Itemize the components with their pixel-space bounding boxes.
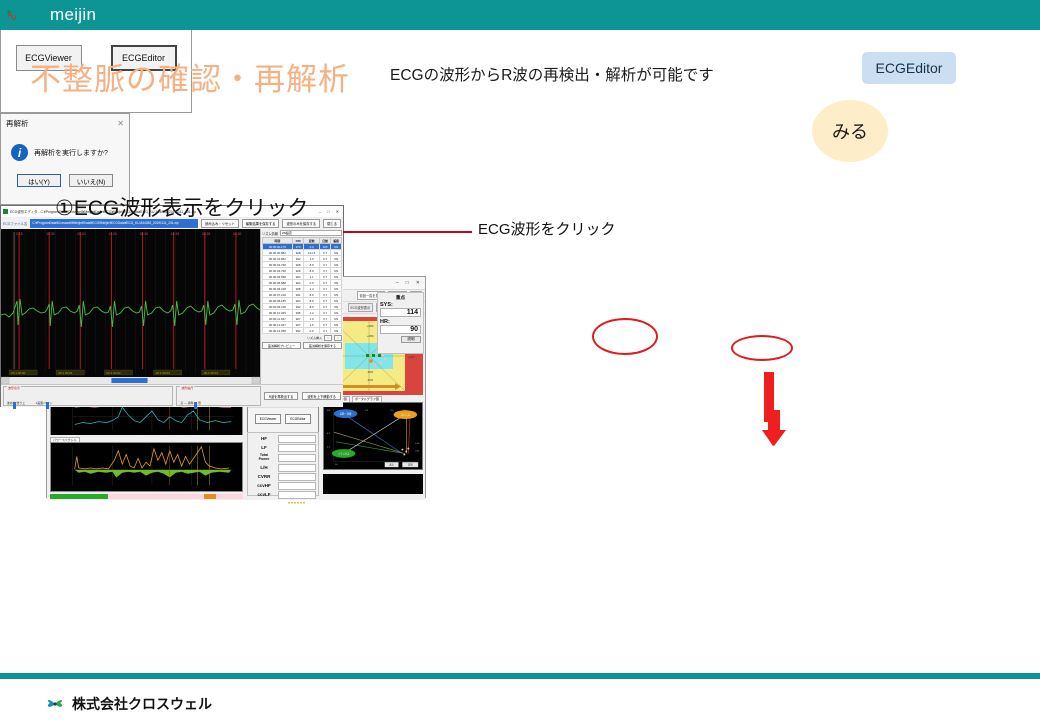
total-power-value (278, 454, 316, 462)
close-icon[interactable]: ✕ (414, 280, 422, 286)
status-badge-ecgeditor: ECGEditor (862, 52, 956, 84)
svg-text:2:15: 2:15 (16, 232, 23, 236)
svg-text:+20%: +20% (367, 334, 374, 338)
svg-text:20:02: 20:02 (77, 232, 86, 236)
close-icon[interactable]: ✕ (334, 209, 341, 214)
rhythm-label: リズム情報 (262, 231, 278, 236)
lf-value (278, 444, 316, 452)
analysis-preview-button[interactable]: 医派解析プレビュー (262, 342, 301, 349)
inline-ecgeditor-button[interactable]: ECGEditor (285, 414, 311, 424)
highlight-ellipse-yes-button (731, 335, 793, 361)
svg-text:14:35: 14:35 (171, 232, 180, 236)
redetect-r-wave-button[interactable]: R波を再検出する (264, 392, 299, 400)
svg-text:00:1 00:03: 00:1 00:03 (156, 371, 171, 375)
hrv-metrics-panel: HF LF TotalPower L/H CVRR (247, 432, 319, 496)
maximize-icon[interactable]: □ (325, 209, 331, 214)
slide-root: meijin 不整脈の確認・再解析 ECGの波形からR波の再検出・解析が可能です… (0, 0, 1040, 720)
hf-label: HF (250, 437, 278, 442)
svg-text:-40%: -40% (367, 378, 374, 382)
dialog-reanalyze-title: 再解析 (6, 118, 29, 129)
step-1-title: ①ECG波形表示をクリック (55, 192, 308, 222)
svg-text:04:35: 04:35 (202, 232, 211, 236)
power-chart-panel (50, 442, 243, 492)
status-color-bar (50, 494, 243, 499)
close-button[interactable]: 閉じる (323, 219, 341, 228)
company-name: 株式会社クロスウェル (72, 694, 212, 714)
flow-arrow-down (756, 372, 792, 453)
close-icon[interactable]: ✕ (117, 119, 124, 128)
bp-stats-caption: 重点 (380, 295, 421, 301)
ecg-editor-app-icon (3, 209, 8, 214)
lf-label: LF (250, 446, 278, 451)
hr-stat-value: 90 (380, 325, 421, 334)
company-logo-icon (44, 693, 66, 715)
svg-text:0.24: 0.24 (415, 451, 420, 453)
top-bar: meijin (0, 0, 1040, 30)
page-title: 不整脈の確認・再解析 (30, 54, 350, 99)
lh-label: L/H (250, 466, 278, 471)
hrv-row: ccvHF (250, 482, 316, 490)
rhythm-header: リズム情報 ZN設定 (262, 230, 342, 236)
app-brand-title: meijin (50, 5, 96, 25)
bp-stats-panel: 重点 SYS: 114 HR: 90 説明 (377, 292, 424, 354)
table-cell: NS (331, 328, 342, 334)
hrv-row: LF (250, 444, 316, 452)
footer: 株式会社クロスウェル (44, 693, 212, 715)
rhythm-up-button[interactable]: ↑ (324, 335, 332, 341)
ecg-rhythm-sidebar: リズム情報 ZN設定 時間 RRI 変動 自動 編集 00:00:00.1752… (260, 229, 343, 384)
footer-divider (0, 673, 1040, 679)
scroll-speed-label: 進める/送り上 (7, 401, 25, 405)
sys-stat-value: 114 (380, 308, 421, 317)
black-filler-strip (323, 474, 423, 494)
svg-text:00:1 00:04: 00:1 00:04 (204, 371, 219, 375)
svg-text:00:1 00:01: 00:1 00:01 (58, 371, 73, 375)
hrv-row: CVRR (250, 473, 316, 481)
page-size-slider[interactable]: 1画面/ページ (36, 401, 53, 405)
analysis-save-button[interactable]: 医派解析を保存する (303, 342, 342, 349)
table-cell: 0.7 (319, 328, 331, 334)
ccvlf-value (278, 491, 316, 499)
info-icon: i (11, 144, 28, 161)
ccvhf-value (278, 482, 316, 490)
svg-text:10:30: 10:30 (46, 232, 55, 236)
ecg-path-label: ECGファイル名 (3, 221, 27, 226)
maximize-icon[interactable]: □ (404, 280, 411, 286)
svg-text:+40%: +40% (408, 355, 415, 359)
ecg-editor-window: ECG波形エディタ - C:¥ProgramData¥Crosswell¥Mei… (0, 205, 344, 407)
svg-text:1.00: 1.00 (415, 443, 420, 445)
svg-text:18:26: 18:26 (140, 232, 149, 236)
svg-text:04:26: 04:26 (233, 232, 242, 236)
svg-text:00:1 00:00: 00:1 00:00 (11, 371, 26, 375)
svg-text:+40%: +40% (367, 324, 374, 328)
table-cell: 932 (292, 328, 304, 334)
lh-value (278, 464, 316, 472)
table-row[interactable]: 00:00:13.0589320.90.7NS (263, 328, 342, 334)
table-cell: 0.9 (304, 328, 319, 334)
svg-text:0.2: 0.2 (327, 447, 331, 449)
rhythm-select[interactable]: ZN設定 (280, 230, 342, 236)
dialog-reanalyze-titlebar: 再解析 ✕ (1, 114, 129, 132)
svg-text:1.0: 1.0 (335, 464, 339, 466)
cvrr-value (278, 473, 316, 481)
ecg-waveform-plot[interactable]: 2:1510:3020:02 14:2018:2614:35 04:3504:2… (1, 229, 260, 384)
ccvlf-label: ccvLF (250, 493, 278, 498)
waveform-display-caption: 波形表示 (7, 386, 21, 390)
svg-text:L/H: L/H (327, 410, 331, 412)
table-cell: 00:00:13.058 (263, 328, 293, 334)
highlight-ellipse-ecgeditor (592, 318, 658, 355)
svg-text:0.5: 0.5 (327, 433, 331, 435)
rhythm-insert-label: リズム挿入 (262, 336, 322, 340)
ecg-editor-main: 2:1510:3020:02 14:2018:2614:35 04:3504:2… (1, 229, 343, 384)
ecg-editor-bottom-controls: 波形表示 進める/送り上 1画面/ページ 波形縮尺 高 — 標準 — 低 R波 (1, 384, 343, 407)
minimize-icon[interactable]: – (394, 280, 401, 286)
svg-text:00:1 00:02: 00:1 00:02 (106, 371, 121, 375)
waveform-scale-caption: 波形縮尺 (180, 386, 194, 390)
dialog-reanalyze-message: 再解析を実行しますか? (34, 148, 108, 158)
scale-label: 高 — 標準 — 低 (180, 401, 201, 405)
svg-text:-20%: -20% (367, 370, 374, 374)
hrv-row: TotalPower (250, 453, 316, 463)
inline-ecgviewer-button[interactable]: ECGViewer (255, 414, 281, 424)
move-waveform-button[interactable]: 波形を上下移動する (302, 392, 341, 400)
ccvhf-label: ccvHF (250, 484, 278, 489)
total-power-label: TotalPower (250, 454, 278, 461)
callout-label: ECG波形をクリック (478, 218, 616, 239)
waveform-scale-group: 波形縮尺 高 — 標準 — 低 (176, 386, 260, 406)
hf-value (278, 435, 316, 443)
no-button[interactable]: いいえ(N) (69, 174, 113, 187)
page-subtitle: ECGの波形からR波の再検出・解析が可能です (390, 63, 714, 85)
scale-slider[interactable]: 高 — 標準 — 低 (180, 401, 201, 405)
hrv-row: L/H (250, 464, 316, 472)
rhythm-down-button[interactable]: ↓ (334, 335, 342, 341)
scroll-speed-slider[interactable]: 進める/送り上 (7, 401, 25, 405)
svg-text:14:20: 14:20 (108, 232, 117, 236)
hrv-row: HF (250, 435, 316, 443)
svg-text:2.0: 2.0 (365, 410, 369, 412)
waveform-display-group: 波形表示 進める/送り上 1画面/ページ (3, 386, 173, 406)
bubble-miru: みる (812, 100, 888, 162)
cvrr-label: CVRR (250, 475, 278, 480)
bottom-action-buttons: R波を再検出する 波形を上下移動する (264, 386, 341, 406)
page-size-label: 1画面/ページ (36, 401, 53, 405)
bp-help-button[interactable]: 説明 (401, 336, 421, 343)
hrv-row: ccvLF (250, 491, 316, 499)
network-graph-panel: 安静・回復 ストレス リラックス L/H0.50.2 1.02.05.0 10.… (323, 402, 423, 470)
minimize-icon[interactable]: – (317, 209, 323, 214)
ecg-waveform-display-button[interactable]: ECG波形表示 (348, 303, 374, 312)
yes-button[interactable]: はい(Y) (17, 174, 61, 187)
rhythm-table[interactable]: 時間 RRI 変動 自動 編集 00:00:00.1752790.0105NS0… (262, 237, 342, 334)
tabstrip-lower[interactable]: パワースペクトル (50, 435, 243, 442)
app-icon (7, 7, 18, 18)
svg-text:5.0: 5.0 (391, 410, 395, 412)
rhythm-insert-row: リズム挿入 ↑ ↓ (262, 335, 342, 341)
rhythm-actions: 医派解析プレビュー 医派解析を保存する (262, 342, 342, 349)
